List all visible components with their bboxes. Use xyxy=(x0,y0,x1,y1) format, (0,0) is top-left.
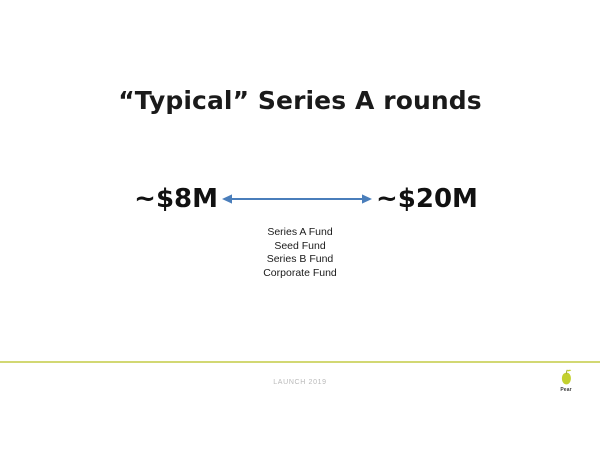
funding-range-row: ~$8M ~$20M xyxy=(0,182,600,216)
range-arrow xyxy=(218,189,376,209)
footer-divider xyxy=(0,361,600,363)
range-low-value: ~$8M xyxy=(128,186,218,212)
brand-wordmark: Pear xyxy=(560,387,571,393)
slide-canvas: “Typical” Series A rounds ~$8M ~$20M Ser… xyxy=(0,0,600,463)
range-high-value: ~$20M xyxy=(376,186,472,212)
footer-caption: LAUNCH 2019 xyxy=(0,379,600,386)
double-headed-arrow-icon xyxy=(221,191,373,207)
list-item: Series A Fund xyxy=(0,226,600,240)
pear-logo-icon xyxy=(558,368,575,386)
fund-type-list: Series A Fund Seed Fund Series B Fund Co… xyxy=(0,226,600,280)
list-item: Corporate Fund xyxy=(0,267,600,281)
list-item: Seed Fund xyxy=(0,240,600,254)
brand-logo: Pear xyxy=(552,368,580,396)
page-title: “Typical” Series A rounds xyxy=(0,86,600,115)
list-item: Series B Fund xyxy=(0,253,600,267)
